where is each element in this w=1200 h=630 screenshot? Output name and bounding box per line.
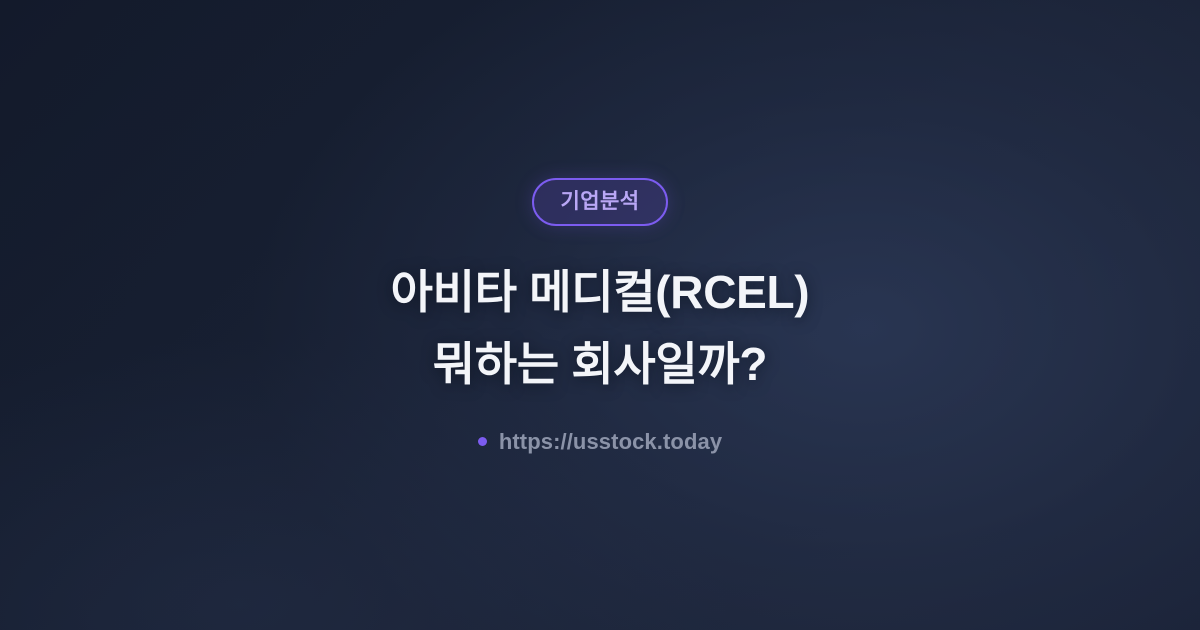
site-url-row: https://usstock.today <box>478 431 722 453</box>
page-title-line-2: 뭐하는 회사일까? <box>391 328 810 400</box>
category-badge-label: 기업분석 <box>561 191 640 212</box>
page-title-line-1: 아비타 메디컬(RCEL) <box>391 256 810 328</box>
card-content: 기업분석 아비타 메디컬(RCEL) 뭐하는 회사일까? https://uss… <box>0 0 1200 630</box>
category-badge: 기업분석 <box>532 178 669 226</box>
bullet-dot-icon <box>478 437 487 446</box>
site-url-label: https://usstock.today <box>499 431 722 453</box>
og-share-card: 기업분석 아비타 메디컬(RCEL) 뭐하는 회사일까? https://uss… <box>0 0 1200 630</box>
page-title: 아비타 메디컬(RCEL) 뭐하는 회사일까? <box>391 256 810 400</box>
